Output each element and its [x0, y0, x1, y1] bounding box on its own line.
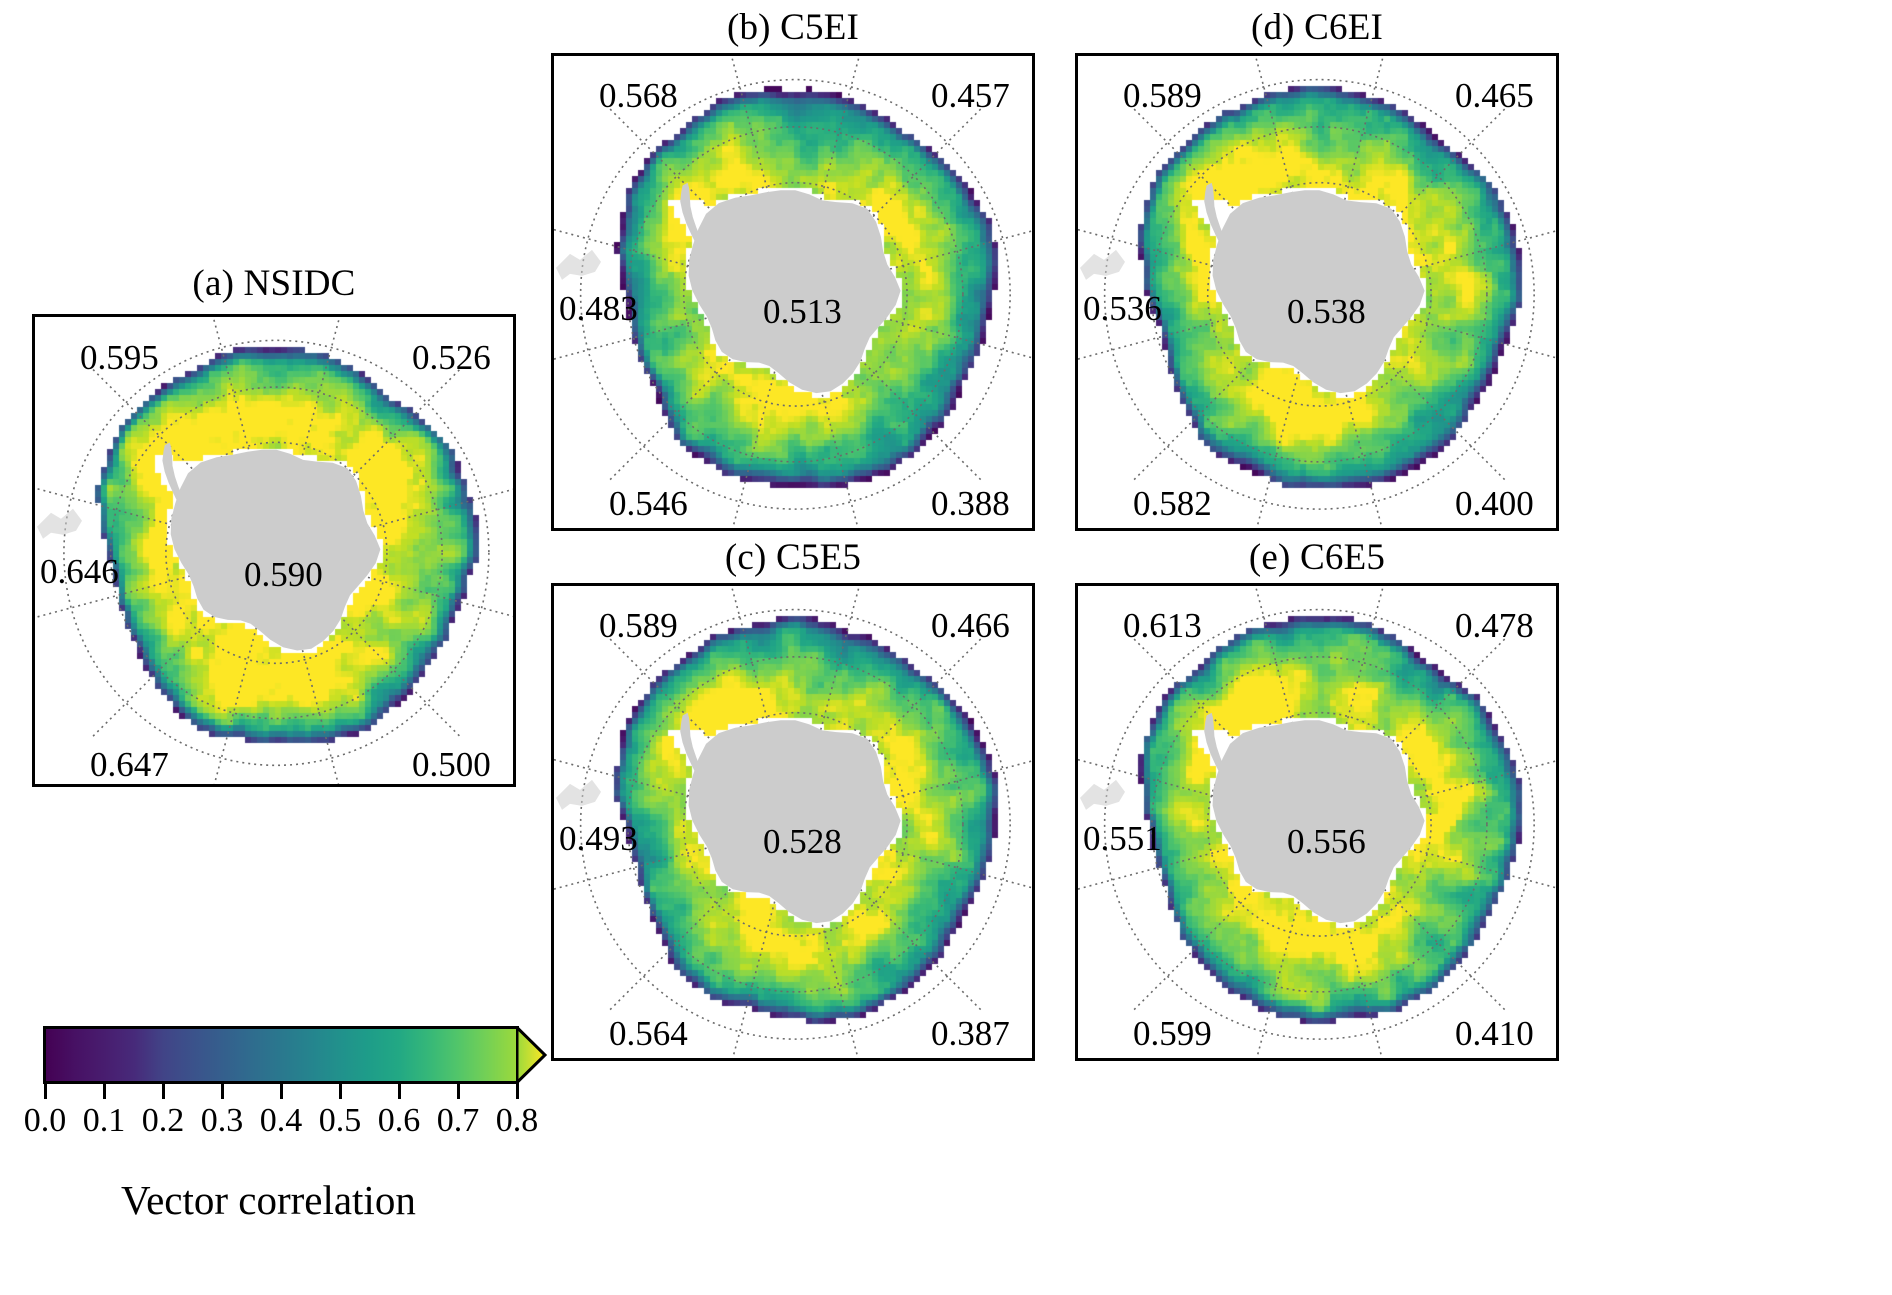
- panel-b-title: (b) C5EI: [551, 6, 1035, 49]
- panel-e-value-center: 0.556: [1287, 824, 1366, 859]
- panel-d-value-top-left: 0.589: [1123, 78, 1202, 113]
- panel-a-value-bottom-left: 0.647: [90, 747, 169, 782]
- colorbar-tick-mark: [280, 1084, 283, 1099]
- panel-a: (a) NSIDC 0.595 0.526 0.646 0.590 0.647 …: [32, 262, 516, 787]
- panel-c-value-bottom-left: 0.564: [609, 1016, 688, 1051]
- panel-e-value-bottom-left: 0.599: [1133, 1016, 1212, 1051]
- colorbar-title: Vector correlation: [121, 1176, 416, 1224]
- colorbar-tick-mark: [162, 1084, 165, 1099]
- colorbar-ticks: 0.0 0.1 0.2 0.3 0.4 0.5 0.6 0.7 0.8: [43, 1084, 519, 1154]
- panel-b-value-bottom-right: 0.388: [931, 486, 1010, 521]
- panel-a-title: (a) NSIDC: [32, 262, 516, 305]
- panel-c-title: (c) C5E5: [551, 536, 1035, 579]
- colorbar-tick-label: 0.2: [142, 1102, 185, 1140]
- colorbar-gradient: [43, 1026, 519, 1084]
- panel-b-value-center: 0.513: [763, 294, 842, 329]
- panel-d-value-center: 0.538: [1287, 294, 1366, 329]
- colorbar-tick-label: 0.0: [24, 1102, 67, 1140]
- panel-b-value-bottom-left: 0.546: [609, 486, 688, 521]
- panel-b-value-left: 0.483: [559, 291, 638, 326]
- colorbar-tick-label: 0.6: [378, 1102, 421, 1140]
- colorbar-extend-max-arrow: [517, 1026, 569, 1084]
- panel-c-value-bottom-right: 0.387: [931, 1016, 1010, 1051]
- colorbar-tick-label: 0.8: [496, 1102, 539, 1140]
- panel-e-value-bottom-right: 0.410: [1455, 1016, 1534, 1051]
- panel-d: (d) C6EI 0.589 0.465 0.536 0.538 0.582 0…: [1075, 6, 1559, 584]
- panel-e-value-top-left: 0.613: [1123, 608, 1202, 643]
- panel-e-title: (e) C6E5: [1075, 536, 1559, 579]
- colorbar-tick-label: 0.3: [201, 1102, 244, 1140]
- colorbar-tick-label: 0.5: [319, 1102, 362, 1140]
- colorbar-tick-mark: [221, 1084, 224, 1099]
- colorbar: 0.0 0.1 0.2 0.3 0.4 0.5 0.6 0.7 0.8 Vect…: [43, 1026, 603, 1206]
- panel-b: (b) C5EI 0.568 0.457 0.483 0.513 0.546 0…: [551, 6, 1035, 584]
- panel-c: (c) C5E5 0.589 0.466 0.493 0.528 0.564 0…: [551, 536, 1035, 1114]
- panel-c-value-top-right: 0.466: [931, 608, 1010, 643]
- colorbar-tick-label: 0.7: [437, 1102, 480, 1140]
- colorbar-tick-label: 0.1: [83, 1102, 126, 1140]
- colorbar-tick-mark: [44, 1084, 47, 1099]
- panel-e-value-left: 0.551: [1083, 821, 1162, 856]
- panel-d-value-top-right: 0.465: [1455, 78, 1534, 113]
- panel-d-title: (d) C6EI: [1075, 6, 1559, 49]
- panel-a-map[interactable]: [32, 314, 516, 787]
- panel-a-value-left: 0.646: [40, 554, 119, 589]
- south-america-tip: [35, 317, 513, 784]
- panel-c-value-left: 0.493: [559, 821, 638, 856]
- panel-c-value-center: 0.528: [763, 824, 842, 859]
- panel-c-value-top-left: 0.589: [599, 608, 678, 643]
- colorbar-tick-mark: [516, 1084, 519, 1099]
- panel-a-value-top-right: 0.526: [412, 340, 491, 375]
- panel-e-value-top-right: 0.478: [1455, 608, 1534, 643]
- colorbar-tick-mark: [398, 1084, 401, 1099]
- colorbar-tick-mark: [457, 1084, 460, 1099]
- panel-e: (e) C6E5 0.613 0.478 0.551 0.556 0.599 0…: [1075, 536, 1559, 1114]
- panel-a-value-top-left: 0.595: [80, 340, 159, 375]
- panel-d-value-bottom-left: 0.582: [1133, 486, 1212, 521]
- panel-b-value-top-right: 0.457: [931, 78, 1010, 113]
- colorbar-tick-mark: [339, 1084, 342, 1099]
- panel-d-value-left: 0.536: [1083, 291, 1162, 326]
- panel-a-value-bottom-right: 0.500: [412, 747, 491, 782]
- colorbar-tick-label: 0.4: [260, 1102, 303, 1140]
- panel-d-value-bottom-right: 0.400: [1455, 486, 1534, 521]
- panel-a-value-center: 0.590: [244, 557, 323, 592]
- panel-b-value-top-left: 0.568: [599, 78, 678, 113]
- colorbar-tick-mark: [103, 1084, 106, 1099]
